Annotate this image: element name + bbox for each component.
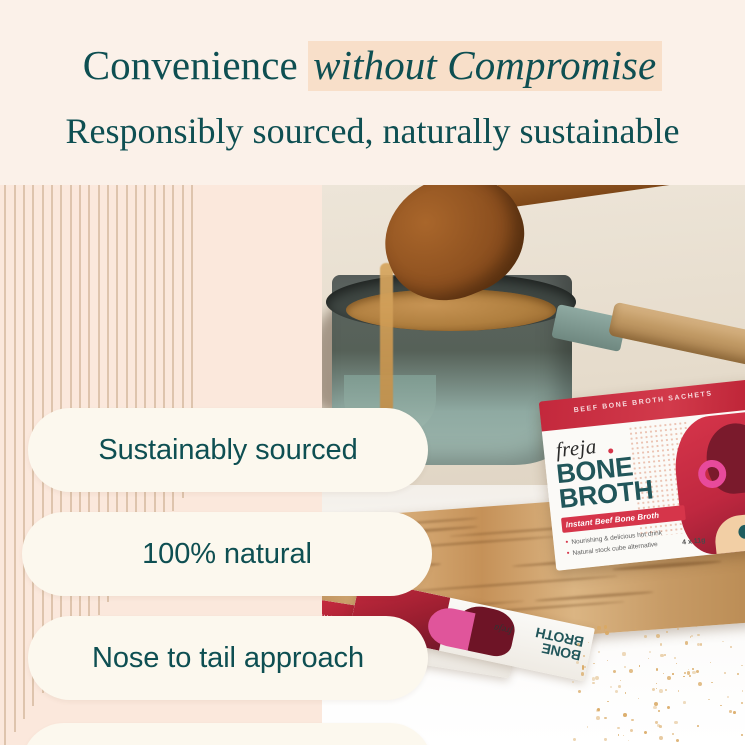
box-headline: BONE BROTH bbox=[555, 452, 654, 512]
feature-pill-label: Sustainably sourced bbox=[98, 434, 357, 467]
powder-speck bbox=[663, 673, 664, 674]
stripe-line bbox=[14, 185, 16, 732]
powder-speck bbox=[724, 672, 725, 673]
powder-speck bbox=[676, 739, 679, 742]
powder-speck bbox=[638, 698, 639, 699]
powder-speck bbox=[656, 634, 660, 638]
powder-speck bbox=[618, 685, 621, 688]
powder-speck bbox=[649, 651, 651, 653]
header-block: Convenience without Compromise Responsib… bbox=[0, 0, 745, 185]
title-plain-part: Convenience bbox=[83, 42, 308, 88]
feature-pill-100-percent-natural[interactable]: 100% natural bbox=[22, 512, 432, 596]
powder-speck bbox=[593, 663, 594, 664]
powder-speck bbox=[588, 642, 589, 643]
powder-speck bbox=[659, 736, 663, 740]
powder-speck bbox=[729, 710, 732, 713]
stripe-line bbox=[135, 185, 137, 563]
feature-pill-nose-to-tail[interactable]: Nose to tail approach bbox=[28, 616, 428, 700]
powder-speck bbox=[584, 666, 586, 668]
stripe-line bbox=[4, 185, 6, 745]
powder-speck bbox=[690, 636, 691, 637]
powder-speck bbox=[741, 734, 743, 736]
feature-pill-label: 100% natural bbox=[142, 538, 312, 571]
powder-speck bbox=[639, 665, 640, 666]
box-front-face: freja BONE BROTH Instant Beef Bone Broth… bbox=[542, 409, 745, 571]
powder-speck bbox=[674, 721, 678, 725]
powder-speck bbox=[625, 692, 626, 693]
powder-speck bbox=[678, 690, 679, 691]
powder-speck bbox=[666, 631, 668, 633]
feature-pill-store-cupboard-friendly[interactable]: Store cupboard friendly bbox=[22, 723, 432, 745]
product-box: BEEF BONE BROTH SACHETS freja BONE BROTH bbox=[539, 379, 745, 571]
powder-speck bbox=[622, 652, 625, 655]
powder-speck bbox=[691, 635, 693, 637]
powder-speck bbox=[692, 668, 694, 670]
powder-speck bbox=[683, 701, 686, 704]
stripe-line bbox=[23, 185, 25, 719]
powder-speck bbox=[592, 677, 595, 680]
page-title: Convenience without Compromise bbox=[0, 40, 745, 90]
wood-grain-streak bbox=[534, 591, 654, 603]
powder-speck bbox=[737, 673, 739, 675]
powder-speck bbox=[578, 690, 581, 693]
powder-speck bbox=[623, 735, 624, 736]
powder-speck bbox=[573, 738, 576, 741]
page-subtitle: Responsibly sourced, naturally sustainab… bbox=[0, 108, 745, 154]
powder-speck bbox=[582, 665, 584, 667]
feature-pill-sustainably-sourced[interactable]: Sustainably sourced bbox=[28, 408, 428, 492]
powder-speck bbox=[698, 682, 702, 686]
stripe-line bbox=[144, 185, 146, 550]
powder-speck bbox=[665, 689, 666, 690]
powder-speck bbox=[577, 643, 580, 646]
powder-speck bbox=[628, 740, 629, 741]
powder-speck bbox=[615, 690, 618, 693]
powder-speck bbox=[653, 706, 656, 709]
powder-speck bbox=[644, 635, 647, 638]
powder-speck bbox=[597, 626, 600, 629]
promo-graphic: Convenience without Compromise Responsib… bbox=[0, 0, 745, 745]
powder-speck bbox=[730, 646, 732, 648]
powder-speck bbox=[575, 653, 576, 654]
powder-speck bbox=[672, 673, 673, 674]
wood-grain-streak bbox=[408, 575, 618, 592]
powder-speck bbox=[672, 733, 673, 734]
powder-speck bbox=[742, 690, 743, 691]
powder-speck bbox=[587, 726, 588, 727]
powder-speck bbox=[581, 672, 584, 675]
powder-speck bbox=[657, 724, 659, 726]
powder-speck bbox=[659, 689, 663, 693]
pouring-broth-stream bbox=[380, 263, 393, 413]
powder-speck bbox=[610, 686, 612, 688]
powder-speck bbox=[617, 727, 620, 730]
powder-speck bbox=[697, 725, 699, 727]
powder-speck bbox=[648, 658, 649, 659]
powder-speck bbox=[683, 676, 684, 677]
powder-speck bbox=[710, 662, 711, 663]
body-zone: BEEF BONE BROTH SACHETS freja BONE BROTH bbox=[0, 185, 745, 745]
powder-speck bbox=[722, 641, 724, 643]
powder-speck bbox=[576, 661, 579, 664]
powder-speck bbox=[596, 716, 600, 720]
feature-pill-label: Nose to tail approach bbox=[92, 642, 364, 675]
title-emphasis-part: without Compromise bbox=[308, 41, 662, 91]
powder-speck bbox=[623, 713, 627, 717]
powder-speck bbox=[604, 738, 606, 740]
powder-speck bbox=[658, 710, 660, 712]
